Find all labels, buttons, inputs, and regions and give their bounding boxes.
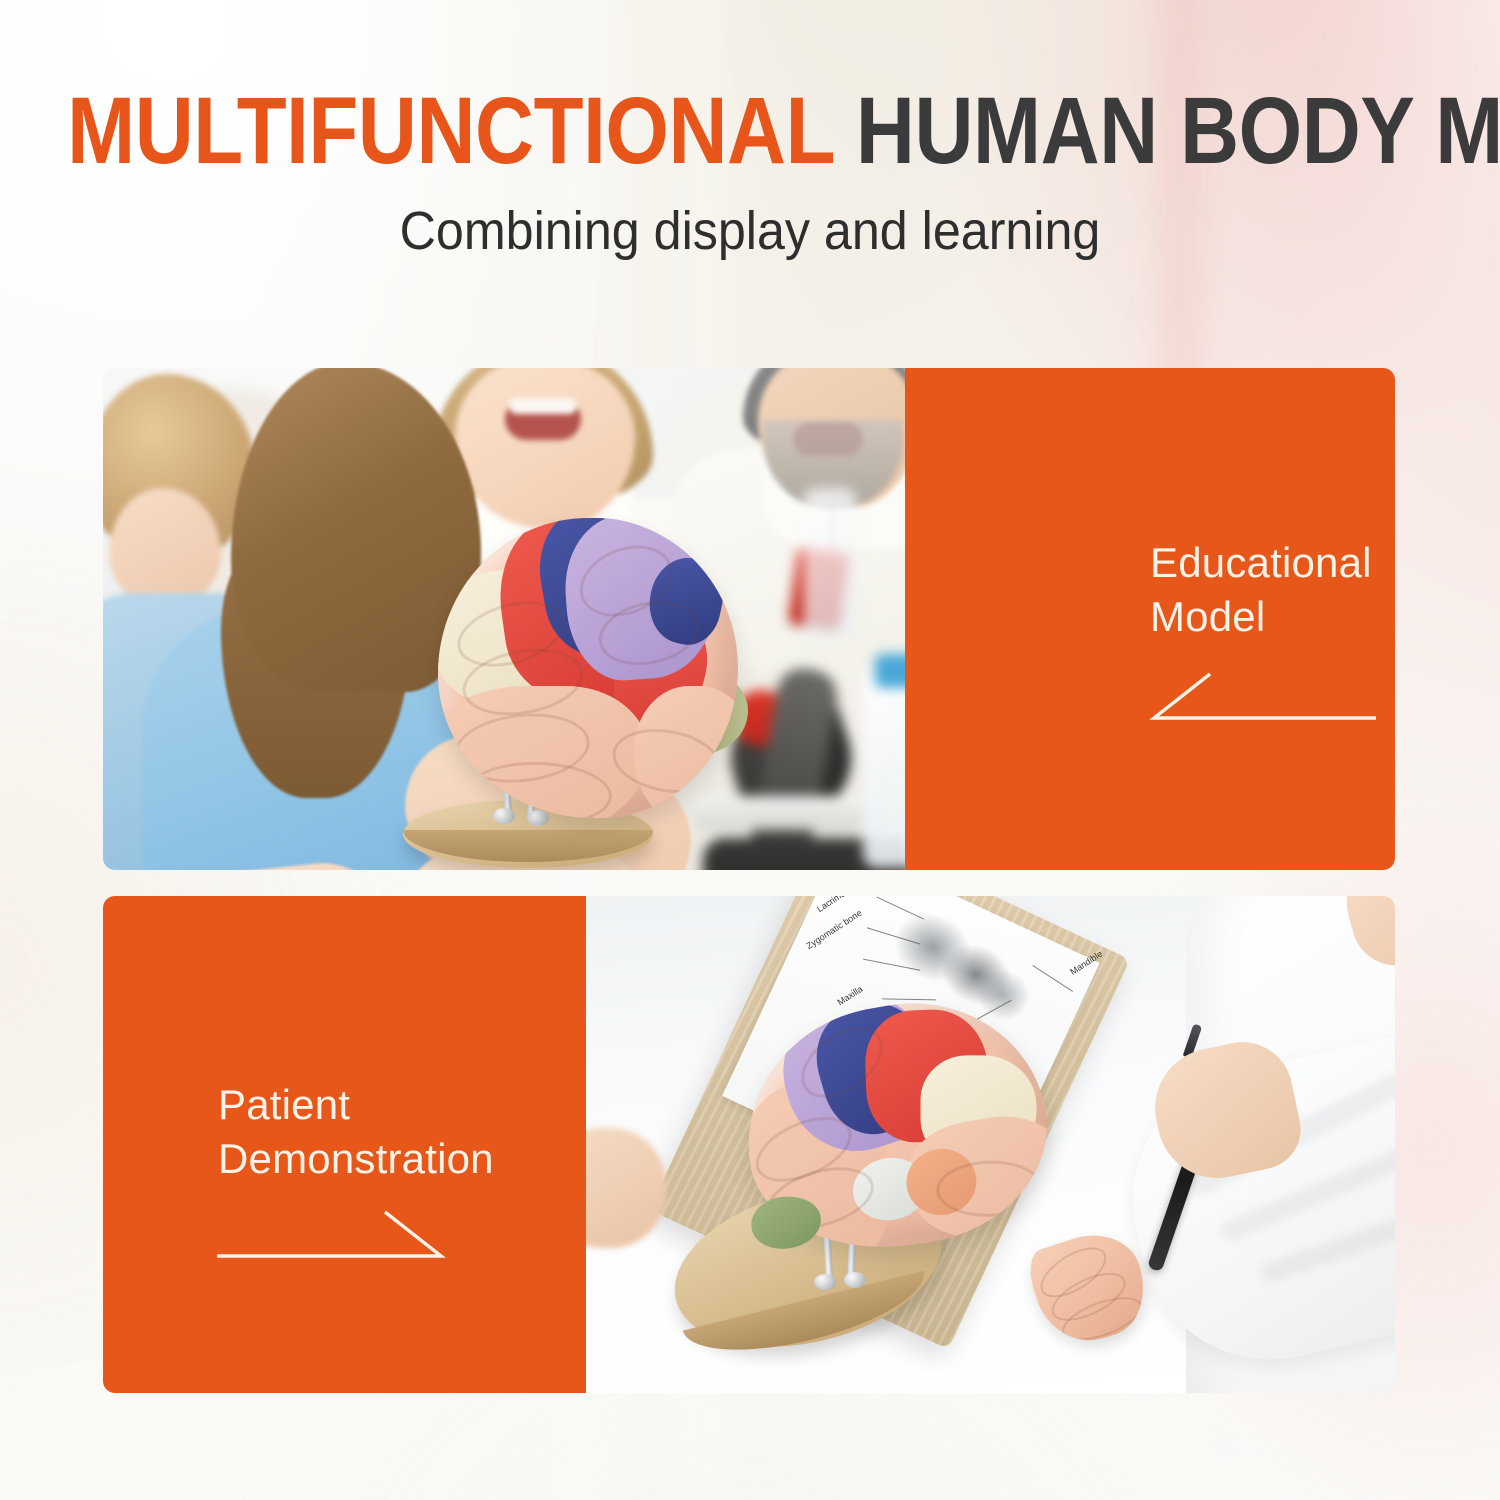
- header: MULTIFUNCTIONAL HUMAN BODY MODEL Combini…: [0, 86, 1500, 260]
- classroom-scene: [103, 368, 905, 870]
- collage-row-2: Patient Demonstration: [103, 896, 1395, 1393]
- panel-patient-demonstration: Patient Demonstration: [103, 896, 586, 1393]
- brain-model-on-stand: [103, 368, 905, 870]
- clinic-scene: Frontal bone Lacrimal bone Zygomatic bon…: [586, 896, 1395, 1393]
- page-subtitle: Combining display and learning: [53, 177, 1448, 260]
- classroom-photo: [103, 368, 905, 870]
- rod-foot: [844, 1272, 866, 1288]
- panel-patient-demonstration-label: Patient Demonstration: [218, 1078, 494, 1186]
- brain-model: [727, 982, 1064, 1270]
- clinic-photo: Frontal bone Lacrimal bone Zygomatic bon…: [586, 896, 1395, 1393]
- title-main-text: HUMAN BODY MODEL: [856, 78, 1500, 184]
- arrow-left-icon: [1148, 668, 1376, 726]
- panel-patient-demonstration-inner: Patient Demonstration: [103, 896, 586, 1393]
- rod-foot: [814, 1274, 836, 1290]
- brain-model: [438, 518, 738, 818]
- panel-educational-model: Educational Model: [905, 368, 1395, 870]
- brain-shell: [438, 518, 738, 818]
- collage-row-1: Educational Model: [103, 368, 1395, 870]
- panel-educational-model-label: Educational Model: [1150, 536, 1372, 644]
- brain-model-on-stand: [586, 896, 1395, 1393]
- page-title: MULTIFUNCTIONAL HUMAN BODY MODEL: [0, 86, 1290, 177]
- arrow-right-icon: [215, 1206, 447, 1264]
- panel-educational-model-inner: Educational Model: [905, 368, 1395, 870]
- feature-collage: Educational Model Patient Demonstration: [103, 368, 1395, 1393]
- title-accent-text: MULTIFUNCTIONAL: [67, 78, 834, 184]
